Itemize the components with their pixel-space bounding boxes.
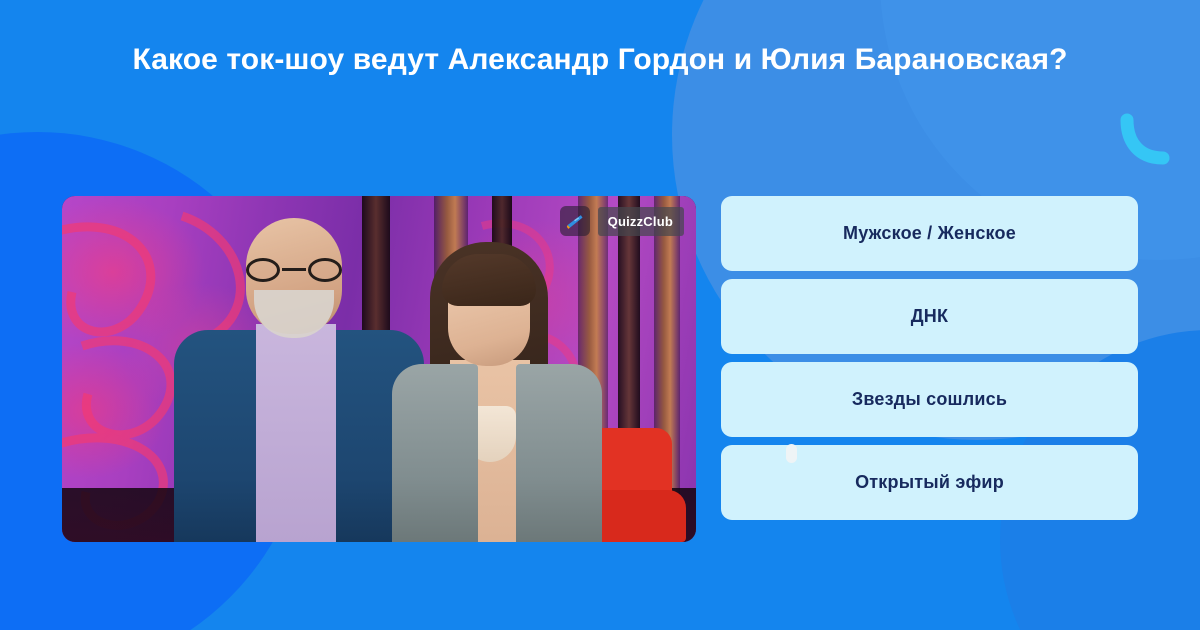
male-host-figure (174, 212, 424, 542)
scroll-position-marker[interactable] (786, 444, 797, 463)
answer-option-4[interactable]: Открытый эфир (721, 445, 1138, 520)
watermark-label: QuizzClub (598, 207, 684, 236)
answer-option-1[interactable]: Мужское / Женское (721, 196, 1138, 271)
female-host-figure (392, 242, 602, 542)
decorative-arc-icon (1117, 112, 1175, 170)
answer-option-3[interactable]: Звезды сошлись (721, 362, 1138, 437)
quiz-question-card: Какое ток-шоу ведут Александр Гордон и Ю… (0, 0, 1200, 630)
question-container: Какое ток-шоу ведут Александр Гордон и Ю… (0, 38, 1200, 82)
question-image: QuizzClub (62, 196, 696, 542)
watermark: QuizzClub (560, 206, 684, 236)
question-title: Какое ток-шоу ведут Александр Гордон и Ю… (130, 38, 1070, 82)
graduation-cap-icon (560, 206, 590, 236)
answer-options-list: Мужское / Женское ДНК Звезды сошлись Отк… (721, 196, 1138, 520)
eyeglasses-icon (244, 258, 344, 282)
answer-option-2[interactable]: ДНК (721, 279, 1138, 354)
